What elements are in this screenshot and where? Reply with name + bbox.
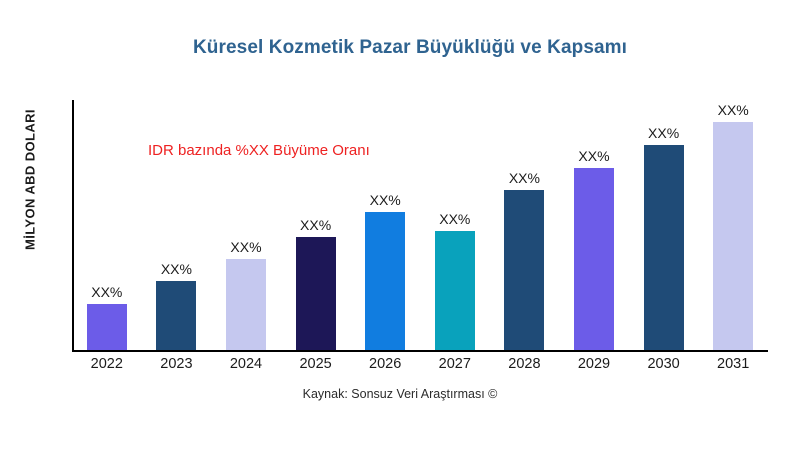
x-tick-2022: 2022 — [72, 356, 142, 372]
bar-value-label-2027: XX% — [439, 211, 470, 227]
bar-group-2028: XX% — [490, 100, 560, 350]
bar-group-2022: XX% — [72, 100, 142, 350]
bar-2028[interactable] — [504, 190, 544, 350]
bar-2024[interactable] — [226, 259, 266, 350]
chart-title: Küresel Kozmetik Pazar Büyüklüğü ve Kaps… — [0, 37, 800, 59]
bar-group-2023: XX% — [142, 100, 212, 350]
x-tick-2026: 2026 — [350, 356, 420, 372]
bar-value-label-2024: XX% — [230, 239, 261, 255]
x-tick-2024: 2024 — [211, 356, 281, 372]
bar-2029[interactable] — [574, 168, 614, 350]
y-axis-title: MİLYON ABD DOLARI — [23, 70, 38, 290]
x-axis-tick-labels: 2022202320242025202620272028202920302031 — [72, 356, 768, 380]
plot-area: XX%XX%XX%XX%XX%XX%XX%XX%XX%XX% — [72, 100, 768, 350]
bar-value-label-2029: XX% — [578, 148, 609, 164]
bar-group-2027: XX% — [420, 100, 490, 350]
bar-value-label-2022: XX% — [91, 284, 122, 300]
bar-2031[interactable] — [713, 122, 753, 350]
bar-group-2029: XX% — [559, 100, 629, 350]
bar-2030[interactable] — [644, 145, 684, 350]
bar-value-label-2031: XX% — [718, 102, 749, 118]
bar-value-label-2028: XX% — [509, 170, 540, 186]
bar-group-2026: XX% — [350, 100, 420, 350]
chart-container: Küresel Kozmetik Pazar Büyüklüğü ve Kaps… — [0, 0, 800, 450]
x-tick-2029: 2029 — [559, 356, 629, 372]
bar-value-label-2030: XX% — [648, 125, 679, 141]
bar-2022[interactable] — [87, 304, 127, 350]
x-tick-2027: 2027 — [420, 356, 490, 372]
bar-group-2031: XX% — [698, 100, 768, 350]
x-tick-2025: 2025 — [281, 356, 351, 372]
x-tick-2028: 2028 — [490, 356, 560, 372]
x-tick-2023: 2023 — [142, 356, 212, 372]
chart-source-caption: Kaynak: Sonsuz Veri Araştırması © — [0, 387, 800, 401]
bar-2025[interactable] — [296, 237, 336, 350]
bar-value-label-2025: XX% — [300, 217, 331, 233]
bar-2026[interactable] — [365, 212, 405, 350]
x-tick-2030: 2030 — [629, 356, 699, 372]
bar-value-label-2023: XX% — [161, 261, 192, 277]
bar-group-2030: XX% — [629, 100, 699, 350]
bar-group-2025: XX% — [281, 100, 351, 350]
x-tick-2031: 2031 — [698, 356, 768, 372]
bar-2027[interactable] — [435, 231, 475, 350]
bar-2023[interactable] — [156, 281, 196, 350]
bar-value-label-2026: XX% — [370, 192, 401, 208]
bar-group-2024: XX% — [211, 100, 281, 350]
x-axis-line — [72, 350, 768, 352]
